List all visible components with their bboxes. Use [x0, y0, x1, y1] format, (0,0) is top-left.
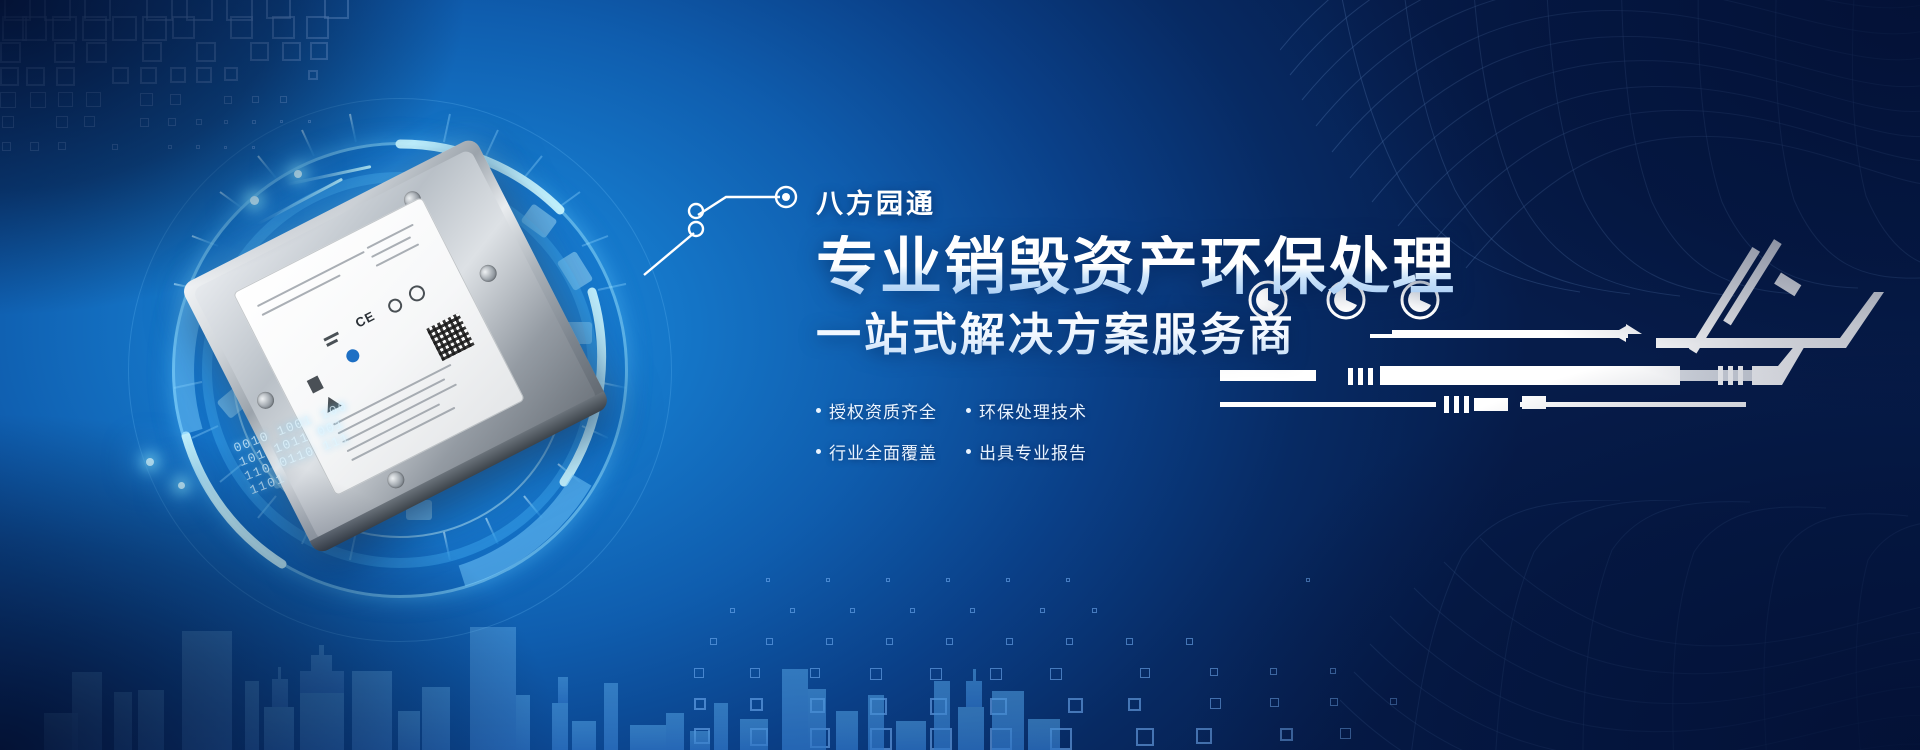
page-title: 专业销毁资产环保处理 — [816, 235, 1636, 302]
feature-label: 行业全面覆盖 — [829, 439, 937, 464]
spark-node-3 — [146, 458, 154, 466]
hero-banner: CE 0010 1001 100 101 1011 001 110 0110 1… — [0, 0, 1920, 750]
spark-node-4 — [178, 482, 185, 489]
hdd-hero-visual: CE — [110, 90, 730, 650]
banner-copy: 八方园通 专业销毁资产环保处理 一站式解决方案服务商 授权资质齐全 环保处理技术… — [816, 182, 1636, 464]
spark-node-1 — [250, 196, 259, 205]
feature-label: 授权资质齐全 — [829, 398, 937, 423]
page-subtitle: 一站式解决方案服务商 — [816, 308, 1636, 362]
list-item: 环保处理技术 — [966, 398, 1116, 423]
list-item: 授权资质齐全 — [816, 398, 966, 423]
spark-node-2 — [294, 170, 302, 178]
bullet-icon — [816, 449, 821, 454]
list-item: 行业全面覆盖 — [816, 439, 966, 464]
brand-eyebrow: 八方园通 — [816, 182, 1636, 221]
bullet-icon — [816, 408, 821, 413]
feature-list: 授权资质齐全 环保处理技术 行业全面覆盖 出具专业报告 — [816, 398, 1116, 464]
feature-label: 出具专业报告 — [979, 439, 1087, 464]
list-item: 出具专业报告 — [966, 439, 1116, 464]
bullet-icon — [966, 449, 971, 454]
bullet-icon — [966, 408, 971, 413]
feature-label: 环保处理技术 — [979, 398, 1087, 423]
